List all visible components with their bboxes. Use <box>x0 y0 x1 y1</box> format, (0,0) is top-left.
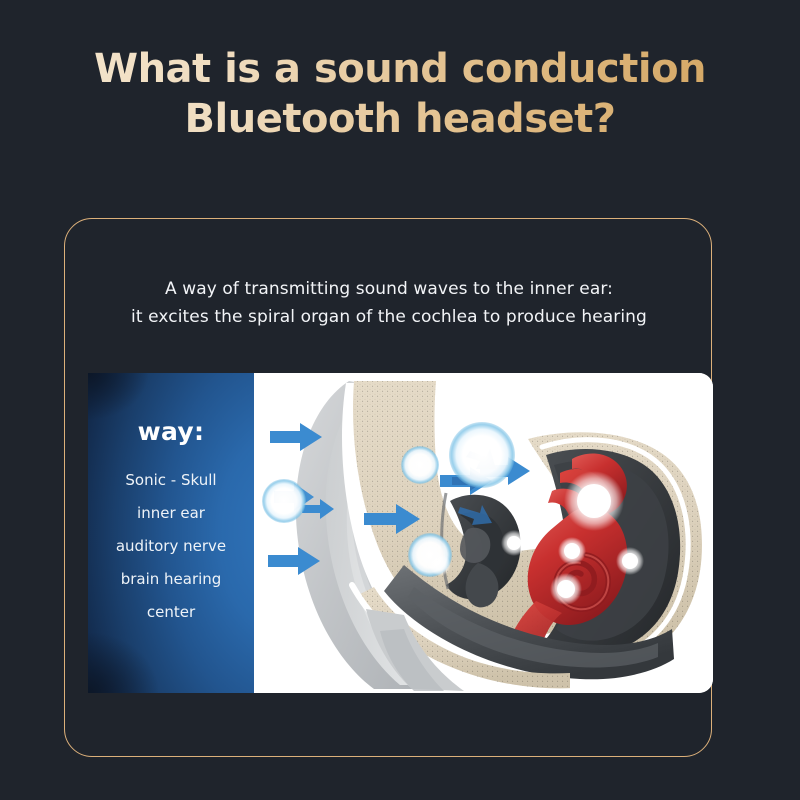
info-card: A way of transmitting sound waves to the… <box>64 218 712 757</box>
way-panel: way: Sonic - Skull inner ear auditory ne… <box>88 373 254 693</box>
page-title: What is a sound conduction Bluetooth hea… <box>0 44 800 144</box>
ear-illustration-panel <box>254 373 713 693</box>
way-panel-content: way: Sonic - Skull inner ear auditory ne… <box>88 373 254 629</box>
list-item: inner ear <box>88 497 254 530</box>
page-title-line-2: Bluetooth headset? <box>0 94 800 144</box>
list-item: Sonic - Skull <box>88 464 254 497</box>
card-subtitle-line-1: A way of transmitting sound waves to the… <box>65 275 713 303</box>
figure-row: way: Sonic - Skull inner ear auditory ne… <box>88 373 713 693</box>
list-item: auditory nerve <box>88 530 254 563</box>
way-heading: way: <box>88 417 254 446</box>
page-title-line-1: What is a sound conduction <box>0 44 800 94</box>
list-item: center <box>88 596 254 629</box>
list-item: brain hearing <box>88 563 254 596</box>
ear-anatomy-icon <box>254 373 713 693</box>
panel-shadow-bottom-left <box>88 633 158 693</box>
way-step-list: Sonic - Skull inner ear auditory nerve b… <box>88 464 254 629</box>
card-subtitle: A way of transmitting sound waves to the… <box>65 275 713 331</box>
card-subtitle-line-2: it excites the spiral organ of the cochl… <box>65 303 713 331</box>
